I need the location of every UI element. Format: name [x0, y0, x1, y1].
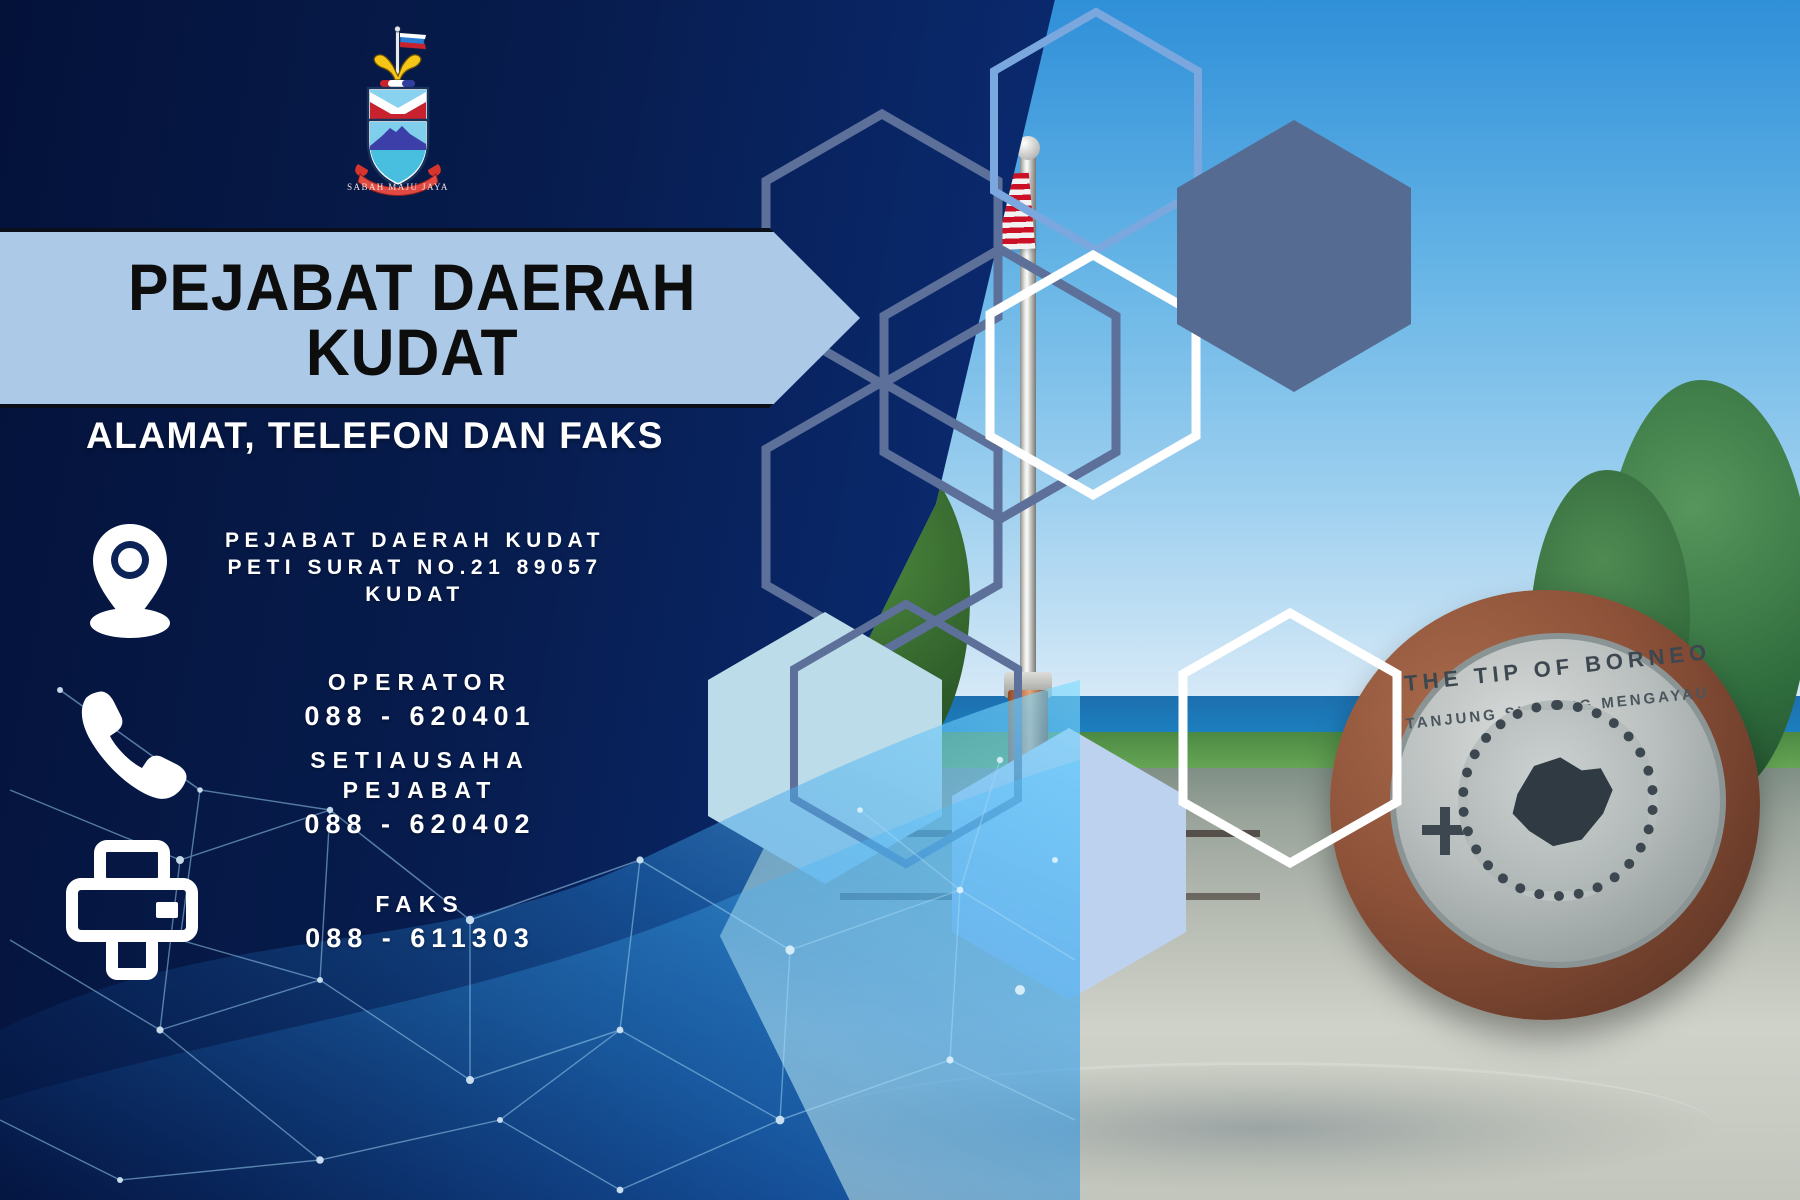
- hexagon-outline-white: [1178, 608, 1402, 868]
- phone-secretary-label2: PEJABAT: [190, 776, 650, 806]
- address-line-1: PEJABAT DAERAH KUDAT: [190, 528, 640, 555]
- phone-secretary-block: SETIAUSAHA PEJABAT 088 - 620402: [190, 746, 650, 842]
- poster-canvas: ★ THE TIP OF BORNEO TANJUNG SIMPANG MENG…: [0, 0, 1800, 1200]
- phone-operator-block: OPERATOR 088 - 620401: [190, 668, 650, 734]
- hexagon-outline-lightblue: [990, 8, 1202, 254]
- borneo-island-shape: [1498, 747, 1617, 855]
- crest-motto-text: SABAH MAJU JAYA: [347, 182, 449, 192]
- fax-printer-icon: [62, 840, 202, 985]
- hexagon-outline-slate: [790, 600, 1022, 868]
- title-banner: PEJABAT DAERAH KUDAT: [0, 228, 860, 408]
- pavement-ring: [806, 1062, 1713, 1192]
- address-line-3: KUDAT: [190, 582, 640, 609]
- page-title: PEJABAT DAERAH KUDAT: [80, 255, 745, 384]
- monument-inner-ring: [1458, 700, 1659, 901]
- location-pin-icon: [75, 520, 185, 645]
- phone-operator-number: 088 - 620401: [190, 698, 650, 734]
- title-banner-shape: PEJABAT DAERAH KUDAT: [0, 228, 860, 408]
- page-title-line2: KUDAT: [306, 315, 519, 389]
- address-block: PEJABAT DAERAH KUDAT PETI SURAT NO.21 89…: [190, 528, 640, 609]
- hexagon-filled-slate: [1175, 118, 1413, 394]
- phone-secretary-label: SETIAUSAHA: [190, 746, 650, 776]
- hexagon-outline-white: [985, 250, 1201, 500]
- monument-plaque: THE TIP OF BORNEO TANJUNG SIMPANG MENGAY…: [1390, 633, 1725, 968]
- phone-icon: [72, 680, 192, 815]
- fax-number: 088 - 611303: [190, 920, 650, 956]
- fax-label: FAKS: [190, 890, 650, 920]
- fax-block: FAKS 088 - 611303: [190, 890, 650, 956]
- sabah-coat-of-arms-icon: SABAH MAJU JAYA: [338, 22, 458, 202]
- page-subtitle: ALAMAT, TELEFON DAN FAKS: [86, 415, 664, 457]
- phone-operator-label: OPERATOR: [190, 668, 650, 698]
- page-title-line1: PEJABAT DAERAH: [128, 250, 696, 324]
- address-line-2: PETI SURAT NO.21 89057: [190, 555, 640, 582]
- phone-secretary-number: 088 - 620402: [190, 806, 650, 842]
